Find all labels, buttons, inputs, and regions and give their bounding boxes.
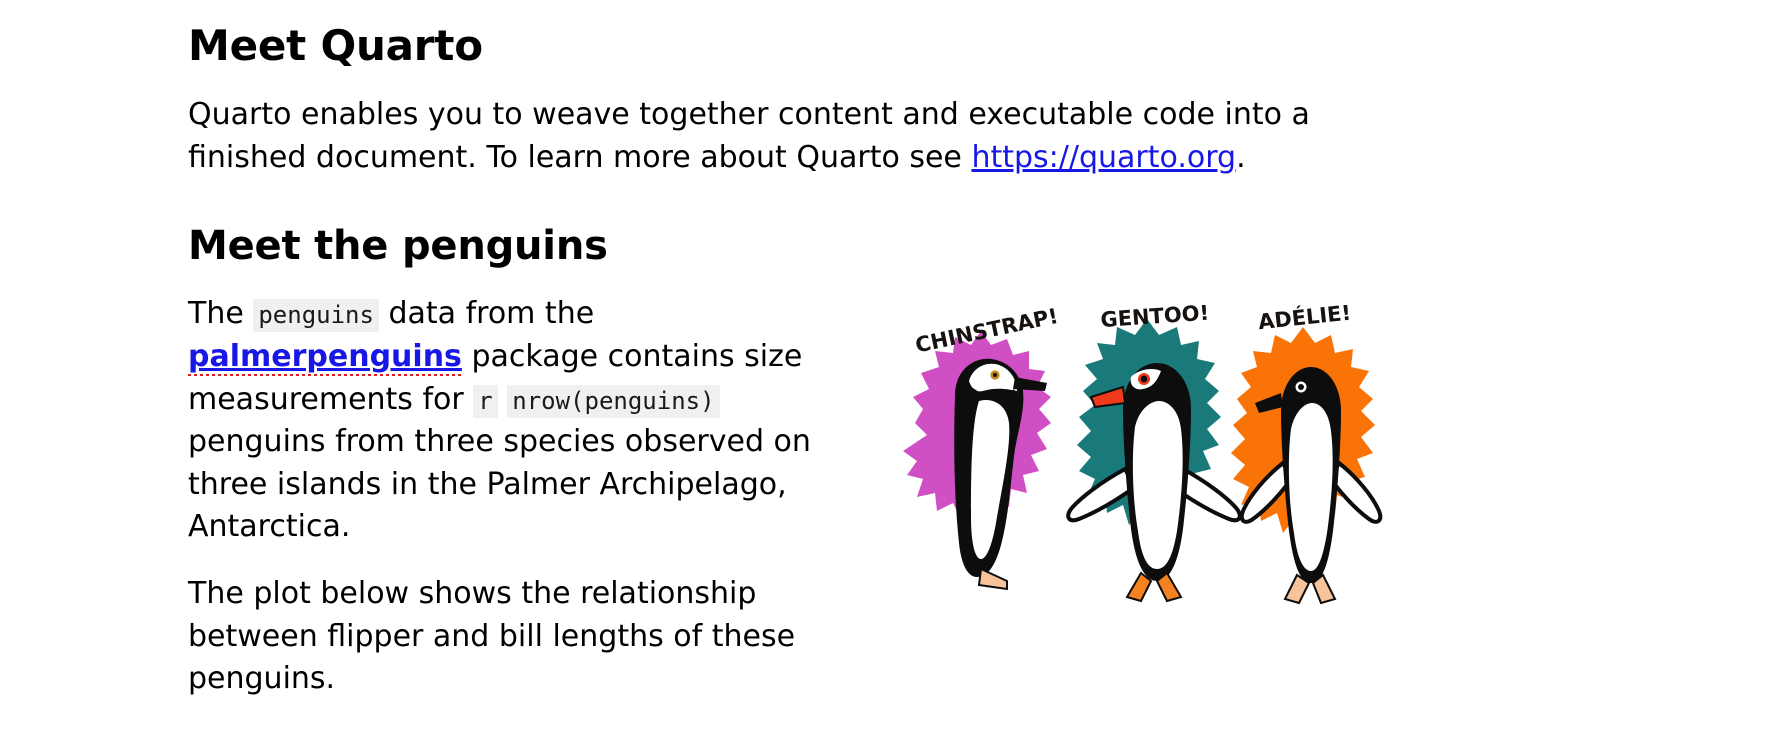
page-title: Meet Quarto: [188, 0, 1368, 70]
adelie-penguin-group: ADÉLIE!: [1231, 305, 1380, 603]
quarto-website-link[interactable]: https://quarto.org: [971, 140, 1236, 175]
inline-code-r: r: [473, 385, 497, 418]
penguins-description-paragraph: The penguins data from the palmerpenguin…: [188, 269, 848, 549]
gentoo-penguin-group: GENTOO!: [1068, 305, 1240, 601]
inline-code-nrow-penguins: nrow(penguins): [507, 385, 719, 418]
paragraph-text-segment-1: The: [188, 296, 253, 331]
adelie-eye: [1298, 384, 1304, 390]
adelie-foot-right: [1313, 575, 1335, 603]
paragraph-text-segment-2: data from the: [379, 296, 594, 331]
paragraph-text-segment-5: penguins from three species observed on …: [188, 424, 811, 544]
gentoo-label: GENTOO!: [1100, 305, 1210, 332]
section-heading-penguins: Meet the penguins: [188, 179, 1368, 269]
intro-text-after-link: .: [1236, 140, 1246, 175]
gentoo-eye: [1141, 376, 1148, 383]
gentoo-foot-left: [1127, 573, 1151, 601]
plot-description-paragraph: The plot below shows the relationship be…: [188, 549, 848, 701]
palmerpenguins-package-link[interactable]: palmerpenguins: [188, 339, 462, 377]
paragraph-text-segment-4: [498, 382, 508, 417]
intro-paragraph: Quarto enables you to weave together con…: [188, 70, 1348, 179]
palmer-penguins-illustration: CHINSTRAP!: [895, 305, 1425, 625]
chinstrap-belly: [971, 400, 1009, 559]
chinstrap-penguin-group: CHINSTRAP!: [903, 305, 1060, 589]
document-page: Meet Quarto Quarto enables you to weave …: [0, 0, 1778, 741]
gentoo-foot-right: [1157, 573, 1181, 601]
chinstrap-pupil: [993, 373, 997, 377]
inline-code-penguins: penguins: [253, 299, 379, 332]
chinstrap-foot-left: [979, 569, 1007, 589]
